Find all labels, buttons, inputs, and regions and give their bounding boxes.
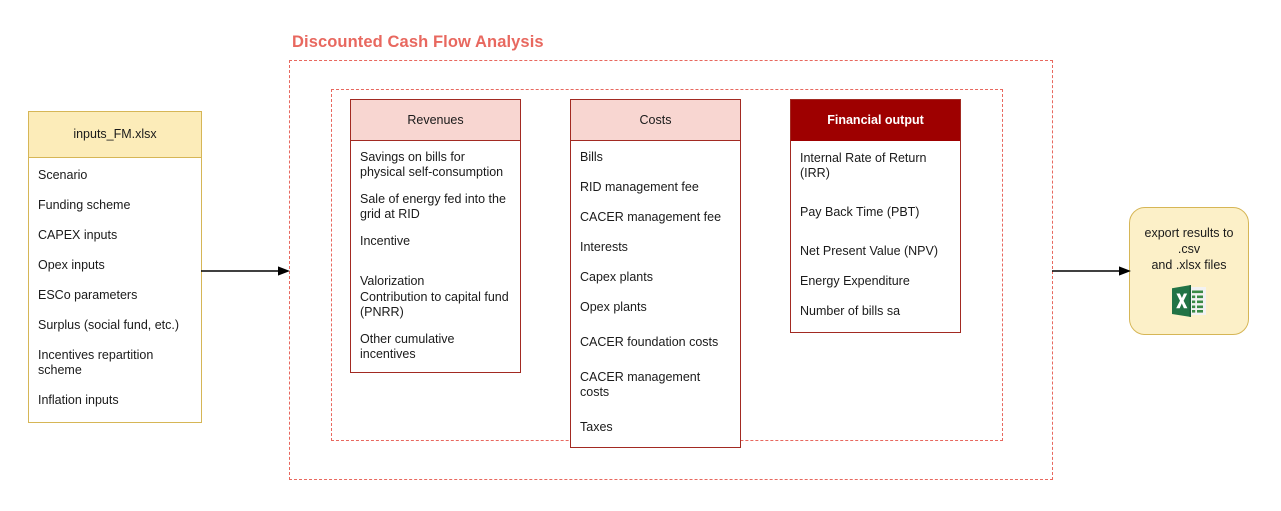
revenues-card-header: Revenues bbox=[351, 100, 520, 141]
list-item: Capex plants bbox=[580, 270, 731, 285]
list-item: Net Present Value (NPV) bbox=[800, 244, 951, 259]
costs-card-header: Costs bbox=[571, 100, 740, 141]
list-item: Opex inputs bbox=[38, 258, 192, 273]
financial-output-card-body: Internal Rate of Return (IRR) Pay Back T… bbox=[791, 141, 960, 332]
financial-output-card-header: Financial output bbox=[791, 100, 960, 141]
list-item: Savings on bills for physical self-consu… bbox=[360, 150, 511, 180]
arrow-inputs-to-dcf bbox=[200, 263, 292, 279]
list-item: ESCo parameters bbox=[38, 288, 192, 303]
list-item: Incentives repartition scheme bbox=[38, 348, 192, 378]
revenues-card-body: Savings on bills for physical self-consu… bbox=[351, 141, 520, 372]
list-item: Energy Expenditure bbox=[800, 274, 951, 289]
costs-card-body: Bills RID management fee CACER managemen… bbox=[571, 141, 740, 447]
list-item: Number of bills sa bbox=[800, 304, 951, 319]
inputs-file-card[interactable]: inputs_FM.xlsx Scenario Funding scheme C… bbox=[28, 111, 202, 423]
costs-card[interactable]: Costs Bills RID management fee CACER man… bbox=[570, 99, 741, 448]
inputs-card-body: Scenario Funding scheme CAPEX inputs Ope… bbox=[29, 158, 201, 422]
inputs-card-header: inputs_FM.xlsx bbox=[29, 112, 201, 158]
list-item: Funding scheme bbox=[38, 198, 192, 213]
list-item: CACER management costs bbox=[580, 370, 731, 400]
list-item: Valorization bbox=[360, 274, 511, 289]
list-item: RID management fee bbox=[580, 180, 731, 195]
list-item: Other cumulative incentives bbox=[360, 332, 511, 362]
list-item: Pay Back Time (PBT) bbox=[800, 205, 951, 220]
revenues-card[interactable]: Revenues Savings on bills for physical s… bbox=[350, 99, 521, 373]
financial-output-card[interactable]: Financial output Internal Rate of Return… bbox=[790, 99, 961, 333]
page-title: Discounted Cash Flow Analysis bbox=[292, 33, 544, 52]
list-item: Inflation inputs bbox=[38, 393, 192, 408]
list-item: Contribution to capital fund (PNRR) bbox=[360, 290, 511, 320]
list-item: Taxes bbox=[580, 420, 731, 435]
export-label-line1: export results to .csv bbox=[1145, 226, 1234, 256]
list-item: CACER foundation costs bbox=[580, 335, 731, 350]
export-label-line2: and .xlsx files bbox=[1151, 258, 1226, 272]
list-item: Sale of energy fed into the grid at RID bbox=[360, 192, 511, 222]
diagram-canvas: Discounted Cash Flow Analysis inputs_FM.… bbox=[0, 0, 1281, 511]
list-item: Incentive bbox=[360, 234, 511, 249]
list-item: CACER management fee bbox=[580, 210, 731, 225]
export-label: export results to .csv and .xlsx files bbox=[1130, 225, 1248, 273]
list-item: CAPEX inputs bbox=[38, 228, 192, 243]
list-item: Opex plants bbox=[580, 300, 731, 315]
excel-icon bbox=[1170, 284, 1208, 318]
list-item: Surplus (social fund, etc.) bbox=[38, 318, 192, 333]
arrow-dcf-to-export bbox=[1051, 263, 1133, 279]
list-item: Interests bbox=[580, 240, 731, 255]
list-item: Scenario bbox=[38, 168, 192, 183]
list-item: Internal Rate of Return (IRR) bbox=[800, 151, 951, 181]
list-item: Bills bbox=[580, 150, 731, 165]
export-results-card[interactable]: export results to .csv and .xlsx files bbox=[1129, 207, 1249, 335]
